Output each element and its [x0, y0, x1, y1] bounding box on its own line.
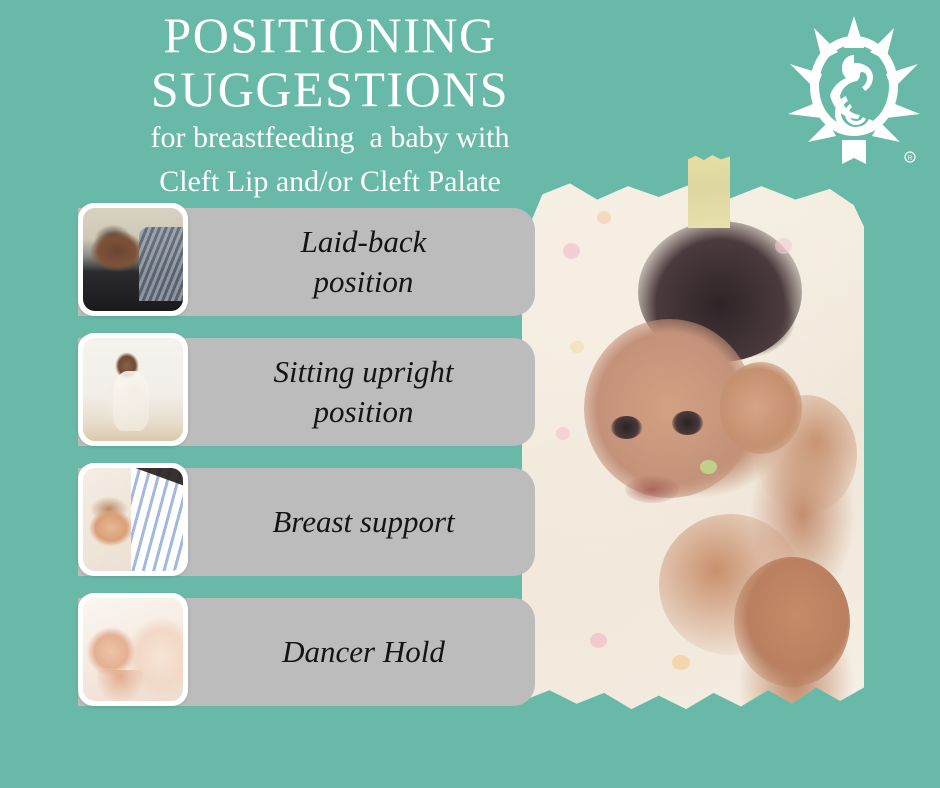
- position-label: Dancer Hold: [282, 632, 445, 672]
- list-item[interactable]: Breast support: [0, 463, 940, 576]
- washi-tape-icon: [688, 155, 730, 228]
- position-label: Breast support: [272, 502, 454, 542]
- position-label: Sitting upright position: [274, 352, 454, 432]
- subtitle-line-1: for breastfeeding a baby with: [0, 116, 660, 160]
- svg-text:R: R: [908, 156, 913, 162]
- subtitle-line-2: Cleft Lip and/or Cleft Palate: [0, 160, 660, 204]
- thumbnail-image: [83, 598, 183, 701]
- positioning-suggestions-poster: POSITIONING SUGGESTIONS for breastfeedin…: [0, 0, 940, 788]
- page-title: POSITIONING SUGGESTIONS for breastfeedin…: [0, 8, 660, 204]
- mother-and-baby-sunburst-logo-icon: R: [784, 14, 924, 174]
- list-item[interactable]: Dancer Hold: [0, 593, 940, 706]
- position-thumbnail-laid-back[interactable]: [78, 203, 188, 316]
- thumbnail-image: [83, 468, 183, 571]
- title-line-1: POSITIONING: [0, 8, 660, 62]
- thumbnail-image: [83, 208, 183, 311]
- position-thumbnail-sitting-upright[interactable]: [78, 333, 188, 446]
- thumbnail-image: [83, 338, 183, 441]
- list-item[interactable]: Sitting upright position: [0, 333, 940, 446]
- list-item[interactable]: Laid-back position: [0, 203, 940, 316]
- position-thumbnail-breast-support[interactable]: [78, 463, 188, 576]
- title-line-2: SUGGESTIONS: [0, 62, 660, 116]
- positions-list: Laid-back position Sitting upright posit…: [0, 203, 940, 723]
- position-label: Laid-back position: [301, 222, 427, 302]
- position-thumbnail-dancer-hold[interactable]: [78, 593, 188, 706]
